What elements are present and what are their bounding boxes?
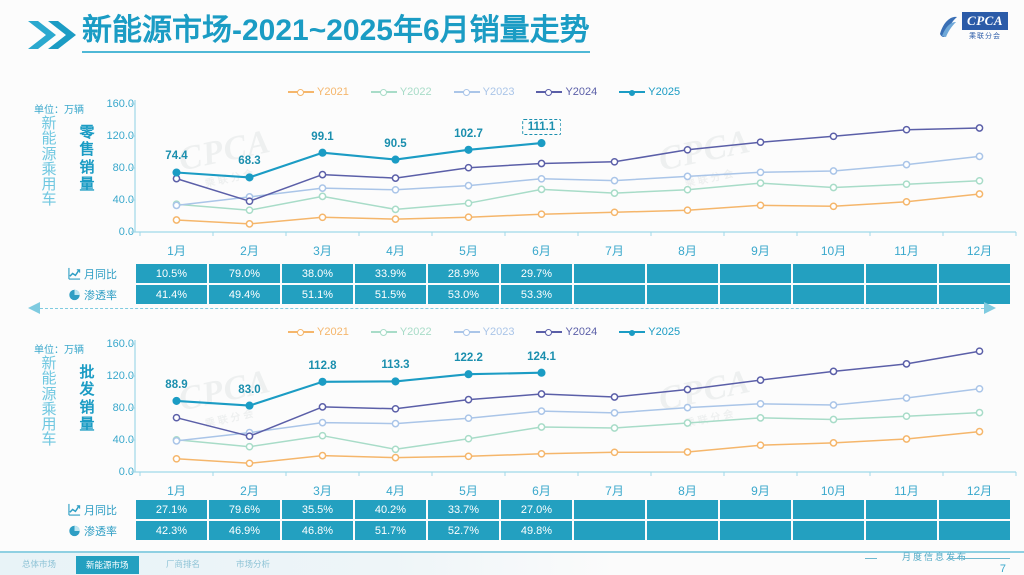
data-label-wholesale-4月: 113.3 — [381, 359, 409, 371]
pie-chart-icon — [68, 524, 81, 537]
section-divider — [40, 308, 984, 309]
table-cell: 33.7% — [428, 500, 499, 519]
data-label-wholesale-2月: 83.0 — [238, 384, 260, 396]
table-cell: 46.8% — [282, 521, 353, 540]
footer-nav-changshangpaiming[interactable]: 厂商排名 — [158, 556, 208, 572]
data-label-wholesale-5月: 122.2 — [454, 352, 483, 364]
table-cell: 35.5% — [282, 500, 353, 519]
footer-bar: 总体市场 新能源市场 厂商排名 市场分析 月度信息发布 7 — [0, 553, 1024, 575]
table-cell — [793, 521, 864, 540]
footer-right-label: 月度信息发布 — [902, 550, 968, 563]
table-cell — [939, 500, 1010, 519]
footer-nav-xinnengyuanshichang[interactable]: 新能源市场 — [76, 556, 139, 574]
table-cell: 49.8% — [501, 521, 572, 540]
divider-arrow-right-icon — [982, 302, 998, 314]
divider-arrow-left-icon — [28, 302, 44, 314]
data-label-wholesale-6月: 124.1 — [527, 351, 556, 363]
footer-rule-right — [948, 558, 1010, 559]
table-cell: 42.3% — [136, 521, 207, 540]
table-cell: 27.0% — [501, 500, 572, 519]
table-cell — [866, 500, 937, 519]
table-row-label-月同比: 月同比 — [68, 500, 134, 519]
data-table-wholesale: 月同比 27.1%79.6%35.5%40.2%33.7%27.0% 渗透率 4… — [68, 500, 1010, 540]
table-cell — [939, 521, 1010, 540]
line-chart-icon — [68, 503, 81, 516]
table-row: 月同比 27.1%79.6%35.5%40.2%33.7%27.0% — [68, 500, 1010, 519]
slide-root: 新能源市场-2021~2025年6月销量走势 CPCA 乘联分会 单位：万辆新能… — [0, 0, 1024, 575]
table-cell — [793, 500, 864, 519]
data-label-wholesale-1月: 88.9 — [165, 379, 187, 391]
data-label-wholesale-3月: 112.8 — [308, 360, 336, 372]
table-cell — [574, 521, 645, 540]
table-cell: 27.1% — [136, 500, 207, 519]
table-cell — [574, 500, 645, 519]
table-row-label-text: 月同比 — [84, 502, 117, 518]
table-cell: 52.7% — [428, 521, 499, 540]
table-cell: 40.2% — [355, 500, 426, 519]
table-row-label-渗透率: 渗透率 — [68, 521, 134, 540]
table-row-label-text: 渗透率 — [84, 523, 117, 539]
page-number: 7 — [1000, 563, 1006, 575]
table-cell — [647, 500, 718, 519]
table-cell — [647, 521, 718, 540]
table-cell: 79.6% — [209, 500, 280, 519]
table-cell: 51.7% — [355, 521, 426, 540]
footer-nav-shichangfenxi[interactable]: 市场分析 — [228, 556, 278, 572]
slide-footer: 总体市场 新能源市场 厂商排名 市场分析 月度信息发布 7 — [0, 549, 1024, 575]
footer-rule-left — [865, 558, 877, 559]
table-cell: 46.9% — [209, 521, 280, 540]
footer-nav-zongtishichang[interactable]: 总体市场 — [14, 556, 64, 572]
table-cell — [866, 521, 937, 540]
table-row: 渗透率 42.3%46.9%46.8%51.7%52.7%49.8% — [68, 521, 1010, 540]
table-cell — [720, 500, 791, 519]
table-cell — [720, 521, 791, 540]
chart-svg-wholesale — [0, 0, 1024, 575]
